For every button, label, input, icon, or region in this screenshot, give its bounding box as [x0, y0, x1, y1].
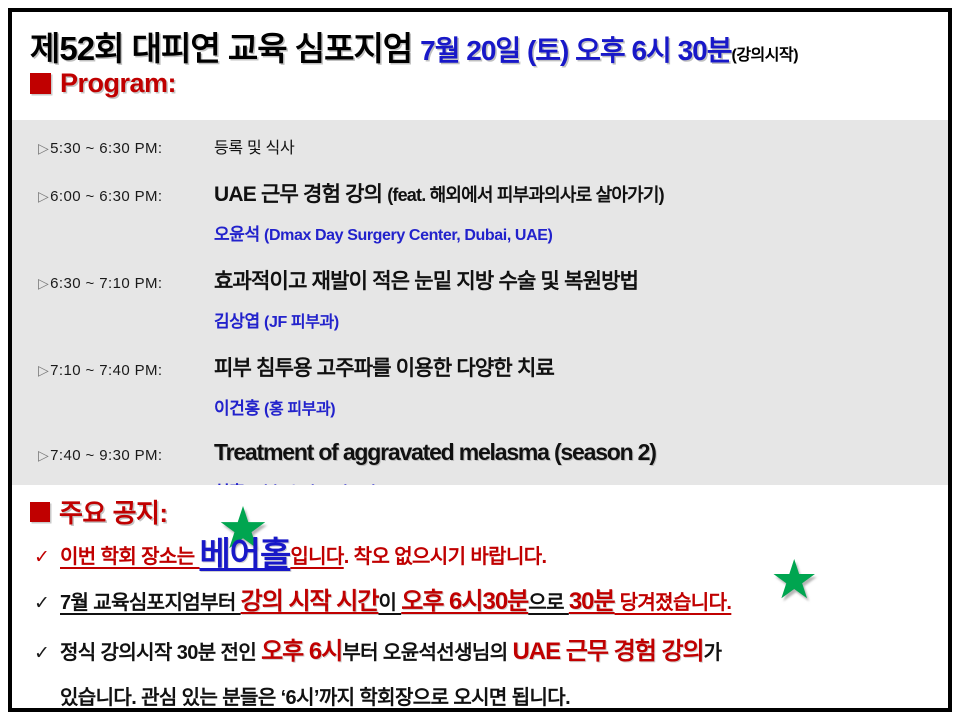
- notice-line3-part-a: 정식 강의시작 30분 전인: [60, 642, 261, 664]
- triangle-right-outline-icon: ▷: [38, 275, 49, 291]
- notice-line2-part-c: 이: [378, 592, 401, 614]
- notice-heading-label: 주요 공지:: [59, 493, 168, 530]
- program-row: ▷5:30 ~ 6:30 PM: 등록 및 식사: [12, 134, 948, 158]
- notice-line3-part-e: 가: [704, 642, 722, 664]
- notice-line3-part-c: 부터 오윤석선생님의: [342, 642, 512, 664]
- triangle-right-outline-icon: ▷: [38, 362, 49, 378]
- notice-line1-part-b: 입니다: [290, 546, 343, 568]
- program-row-time: ▷5:30 ~ 6:30 PM:: [38, 140, 214, 157]
- notice-line-3: ✓정식 강의시작 30분 전인 오후 6시부터 오윤석선생님의 UAE 근무 경…: [34, 631, 938, 666]
- notice-line-4: 있습니다. 관심 있는 분들은 ‘6시’까지 학회장으로 오시면 됩니다.: [60, 681, 938, 710]
- triangle-right-outline-icon: ▷: [38, 140, 49, 156]
- notice-line2-highlight-start-time: 강의 시작 시간: [241, 588, 379, 615]
- venue-name: 베어홀: [199, 536, 290, 574]
- red-square-bullet-icon: [30, 502, 50, 522]
- program-row-time: ▷6:30 ~ 7:10 PM:: [38, 275, 214, 292]
- poster-header: 제52회 대피연 교육 심포지엄7월 20일 (토) 오후 6시 30분(강의시…: [12, 12, 948, 120]
- program-row-affiliation: (JF 피부과): [264, 314, 339, 331]
- program-heading-label: Program:: [60, 68, 176, 99]
- notice-line2-part-e: 으로: [528, 592, 569, 614]
- notice-line4-text: 있습니다. 관심 있는 분들은 ‘6시’까지 학회장으로 오시면 됩니다.: [60, 687, 570, 709]
- program-row: ▷6:30 ~ 7:10 PM: 효과적이고 재발이 적은 눈밑 지방 수술 및…: [12, 265, 948, 295]
- check-mark-icon: ✓: [34, 592, 60, 615]
- program-panel: ▷5:30 ~ 6:30 PM: 등록 및 식사 ▷6:00 ~ 6:30 PM…: [12, 120, 948, 485]
- notice-line2-part-g: 당겨졌습니다.: [615, 592, 732, 614]
- program-row-title: Treatment of aggravated melasma (season …: [214, 439, 656, 466]
- notice-panel: 주요 공지: ★ ★ ✓이번 학회 장소는 베어홀입니다. 착오 없으시기 바랍…: [12, 485, 948, 708]
- program-row: ▷6:00 ~ 6:30 PM: UAE 근무 경험 강의 (feat. 해외에…: [12, 178, 948, 208]
- notice-section-heading: 주요 공지:: [30, 493, 168, 530]
- notice-line-2: ✓7월 교육심포지엄부터 강의 시작 시간이 오후 6시30분으로 30분 당겨…: [34, 581, 938, 616]
- notice-line-1: ✓이번 학회 장소는 베어홀입니다. 착오 없으시기 바랍니다.: [34, 527, 938, 576]
- program-row-speaker: 김상엽 (JF 피부과): [12, 307, 948, 332]
- notice-line1-part-a: 이번 학회 장소는: [60, 546, 199, 568]
- triangle-right-outline-icon: ▷: [38, 188, 49, 204]
- program-row-title: 효과적이고 재발이 적은 눈밑 지방 수술 및 복원방법: [214, 265, 638, 295]
- notice-line1-part-c: . 착오 없으시기 바랍니다.: [344, 546, 547, 568]
- program-row-title-sub: (feat. 해외에서 피부과의사로 살아가기): [387, 185, 664, 205]
- notice-line3-highlight-lecture: UAE 근무 경험 강의: [512, 638, 703, 665]
- program-row: ▷7:40 ~ 9:30 PM: Treatment of aggravated…: [12, 439, 948, 466]
- check-mark-icon: ✓: [34, 546, 60, 569]
- program-row-title: 피부 침투용 고주파를 이용한 다양한 치료: [214, 352, 554, 382]
- page-title: 제52회 대피연 교육 심포지엄7월 20일 (토) 오후 6시 30분(강의시…: [30, 22, 798, 70]
- program-row-title: UAE 근무 경험 강의 (feat. 해외에서 피부과의사로 살아가기): [214, 178, 664, 208]
- program-row: ▷7:10 ~ 7:40 PM: 피부 침투용 고주파를 이용한 다양한 치료: [12, 352, 948, 382]
- title-note-text: (강의시작): [731, 47, 798, 64]
- program-row-time: ▷7:40 ~ 9:30 PM:: [38, 447, 214, 464]
- program-section-heading: Program:: [30, 68, 176, 99]
- program-row-time: ▷7:10 ~ 7:40 PM:: [38, 362, 214, 379]
- title-main-text: 제52회 대피연 교육 심포지엄: [30, 30, 412, 67]
- program-row-speaker: 오윤석 (Dmax Day Surgery Center, Dubai, UAE…: [12, 220, 948, 245]
- red-square-bullet-icon: [30, 73, 51, 94]
- triangle-right-outline-icon: ▷: [38, 447, 49, 463]
- title-date-text: 7월 20일 (토) 오후 6시 30분: [420, 35, 731, 66]
- program-row-affiliation: (Dmax Day Surgery Center, Dubai, UAE): [264, 227, 552, 244]
- poster-frame: 제52회 대피연 교육 심포지엄7월 20일 (토) 오후 6시 30분(강의시…: [8, 8, 952, 712]
- notice-line3-highlight-time: 오후 6시: [261, 638, 342, 665]
- program-row-time: ▷6:00 ~ 6:30 PM:: [38, 188, 214, 205]
- check-mark-icon: ✓: [34, 642, 60, 665]
- program-row-affiliation: (홍 피부과): [264, 401, 335, 418]
- notice-line2-part-a: 7월 교육심포지엄부터: [60, 592, 241, 614]
- program-row-speaker: 이건홍 (홍 피부과): [12, 394, 948, 419]
- program-row-title: 등록 및 식사: [214, 134, 294, 158]
- notice-line2-highlight-time: 오후 6시30분: [401, 588, 528, 615]
- notice-line2-highlight-30min: 30분: [569, 588, 615, 615]
